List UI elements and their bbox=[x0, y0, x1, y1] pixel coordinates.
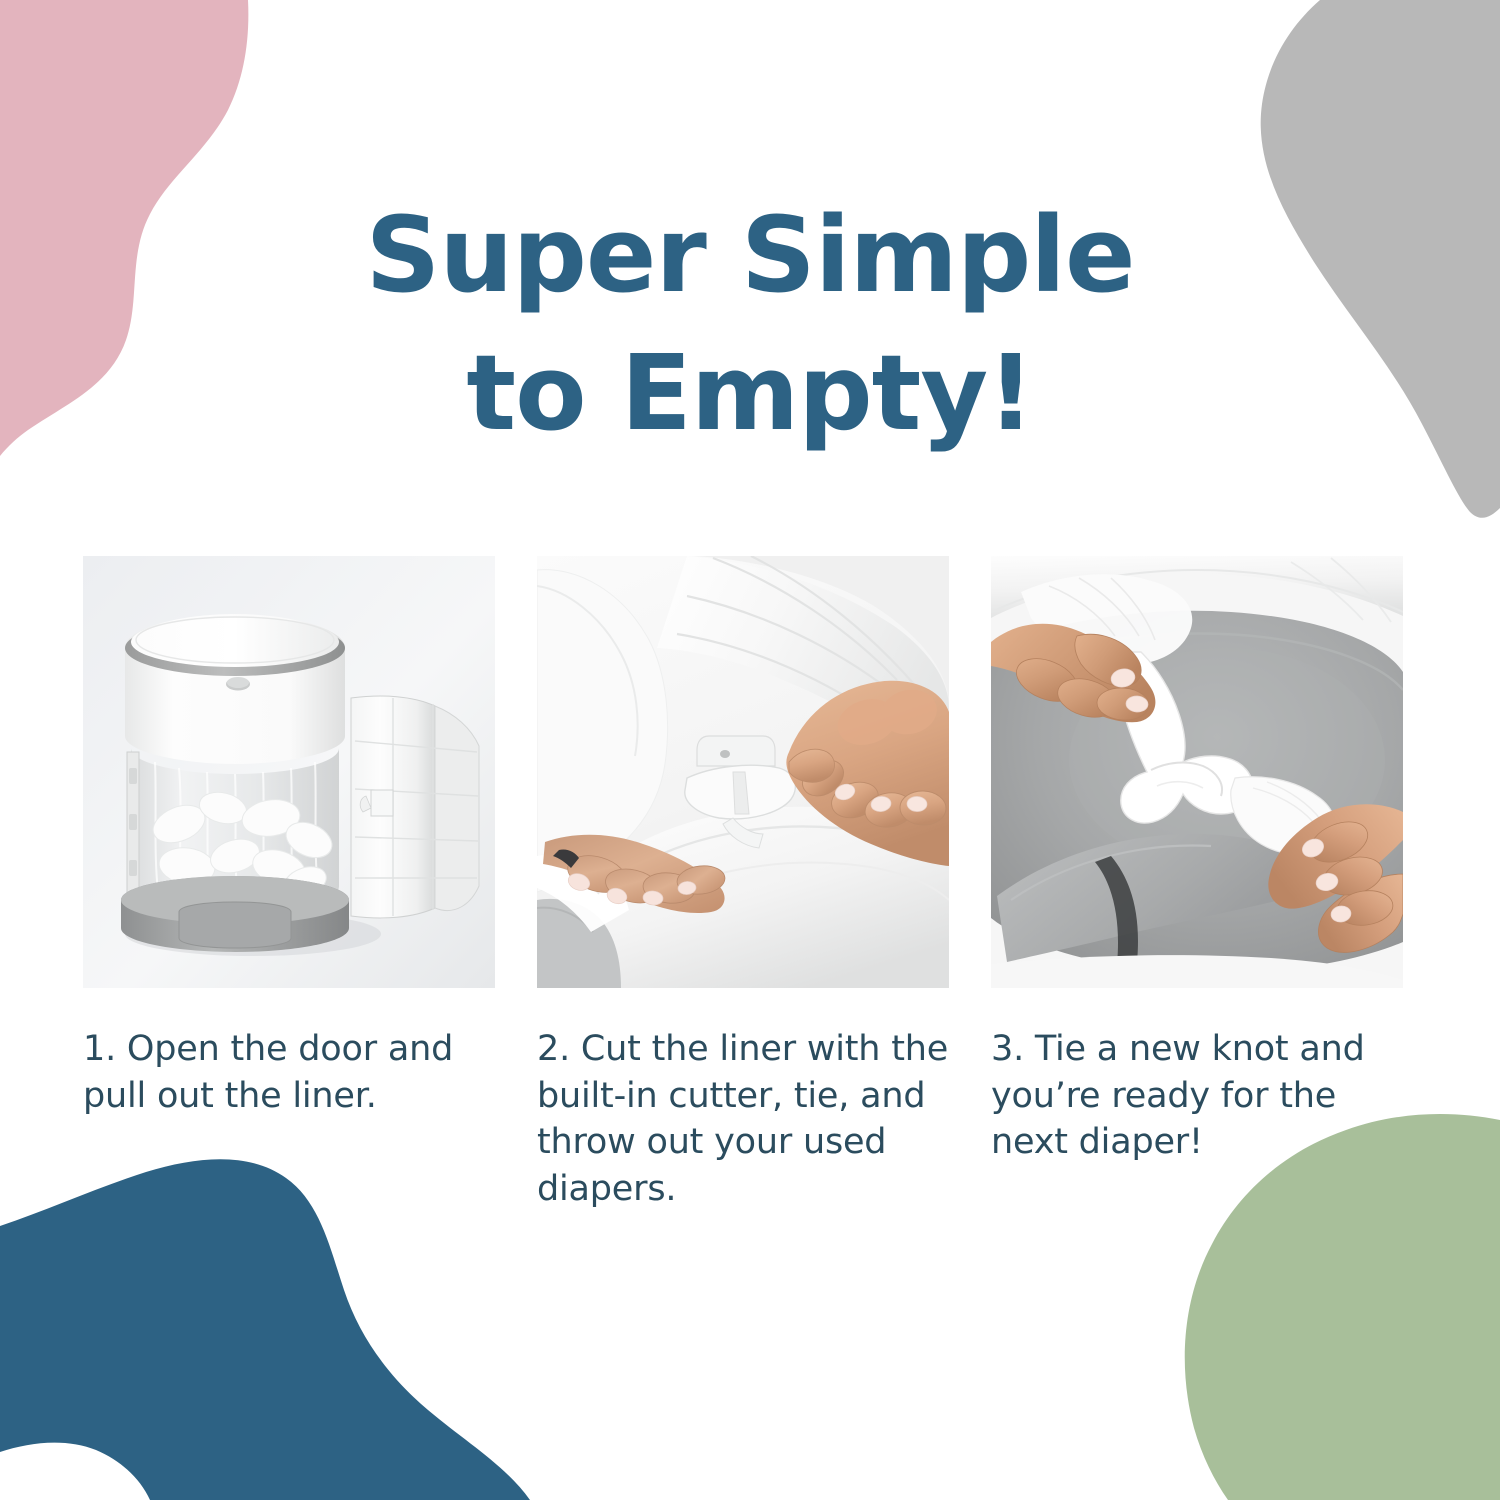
step-3: 3. Tie a new knot and you’re ready for t… bbox=[991, 556, 1403, 1212]
step-2: 2. Cut the liner with the built-in cutte… bbox=[537, 556, 949, 1212]
step-1: 1. Open the door and pull out the liner. bbox=[83, 556, 495, 1212]
photo-step-2-cut-liner bbox=[537, 556, 949, 988]
infographic-page: Super Simple to Empty! bbox=[0, 0, 1500, 1500]
page-title: Super Simple to Empty! bbox=[0, 186, 1500, 463]
steps-row: 1. Open the door and pull out the liner. bbox=[83, 556, 1417, 1212]
step-3-caption: 3. Tie a new knot and you’re ready for t… bbox=[991, 1026, 1403, 1166]
title-line-2: to Empty! bbox=[0, 324, 1500, 462]
title-line-1: Super Simple bbox=[0, 186, 1500, 324]
step-2-caption: 2. Cut the liner with the built-in cutte… bbox=[537, 1026, 949, 1212]
photo-step-1-open-door bbox=[83, 556, 495, 988]
step-1-caption: 1. Open the door and pull out the liner. bbox=[83, 1026, 495, 1119]
photo-step-3-tie-knot bbox=[991, 556, 1403, 988]
